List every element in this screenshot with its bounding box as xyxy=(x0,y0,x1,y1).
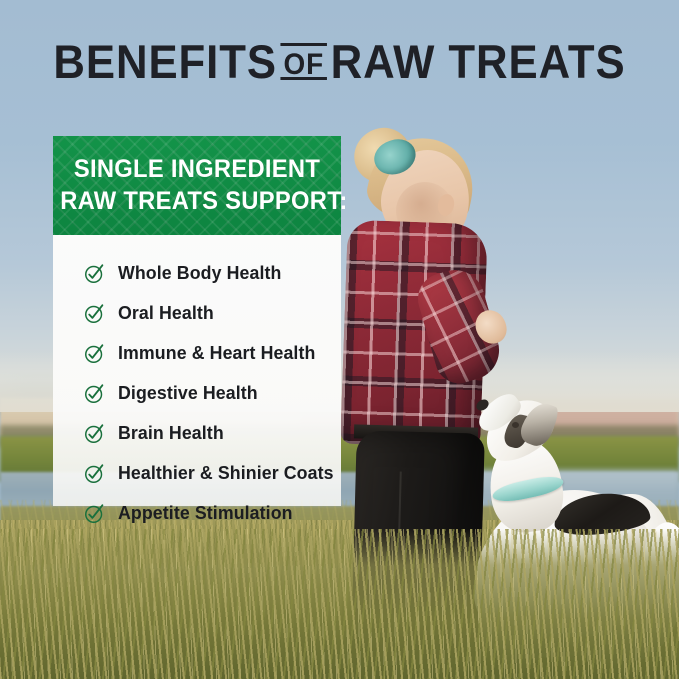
benefit-label: Appetite Stimulation xyxy=(118,502,293,524)
benefit-label: Digestive Health xyxy=(118,382,258,404)
list-item: Healthier & Shinier Coats xyxy=(53,453,341,493)
benefits-card-header: SINGLE INGREDIENT RAW TREATS SUPPORT: xyxy=(53,136,341,235)
card-header-line-2: RAW TREATS SUPPORT: xyxy=(60,185,334,217)
benefit-label: Healthier & Shinier Coats xyxy=(118,462,334,484)
benefit-label: Whole Body Health xyxy=(118,262,281,284)
list-item: Immune & Heart Health xyxy=(53,333,341,373)
list-item: Oral Health xyxy=(53,293,341,333)
check-circle-icon xyxy=(84,383,105,404)
check-circle-icon xyxy=(84,463,105,484)
check-circle-icon xyxy=(84,303,105,324)
page-title: BENEFITSOFRAW TREATS xyxy=(24,38,655,85)
check-circle-icon xyxy=(84,423,105,444)
check-circle-icon xyxy=(84,503,105,524)
headline-of: OF xyxy=(281,48,327,81)
headline-part-2: RAW TREATS xyxy=(331,35,626,88)
dog-eye xyxy=(512,422,519,428)
card-header-line-1: SINGLE INGREDIENT xyxy=(60,153,334,185)
list-item: Digestive Health xyxy=(53,373,341,413)
list-item: Whole Body Health xyxy=(53,253,341,293)
list-item: Appetite Stimulation xyxy=(53,493,341,533)
benefit-label: Brain Health xyxy=(118,422,224,444)
foreground-grass-overlay xyxy=(0,529,679,679)
check-circle-icon xyxy=(84,263,105,284)
list-item: Brain Health xyxy=(53,413,341,453)
benefit-label: Immune & Heart Health xyxy=(118,342,315,364)
benefit-label: Oral Health xyxy=(118,302,214,324)
benefits-card: SINGLE INGREDIENT RAW TREATS SUPPORT: Wh… xyxy=(53,136,341,506)
headline-part-1: BENEFITS xyxy=(53,35,277,88)
check-circle-icon xyxy=(84,343,105,364)
poster: BENEFITSOFRAW TREATS SINGLE INGREDIENT R… xyxy=(0,0,679,679)
benefits-list: Whole Body Health Oral Health Immune & H… xyxy=(53,235,341,506)
